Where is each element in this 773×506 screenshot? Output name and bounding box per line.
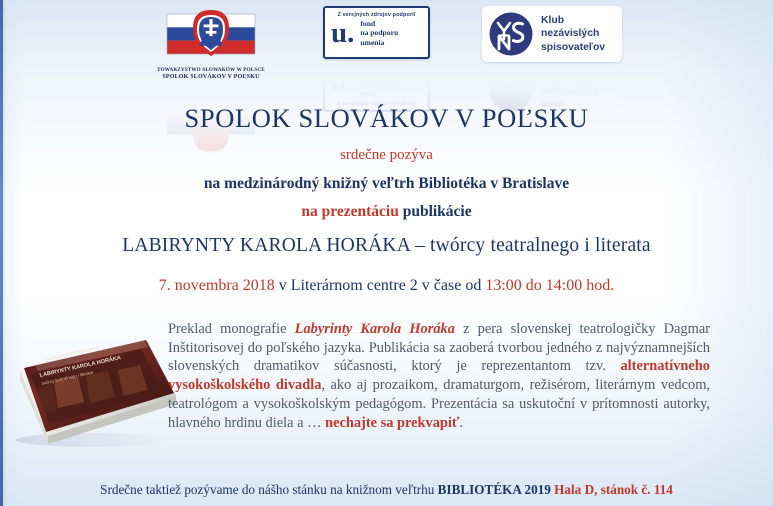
event-venue: v Literárnom centre 2 v čase od bbox=[275, 277, 486, 294]
caption-polish: TOWARZYSTWO SŁOWAKÓW W POLSCE bbox=[151, 68, 271, 74]
footer-line: Srdečne taktiež pozývame do nášho stánku… bbox=[0, 482, 773, 498]
kns-line-1: Klub bbox=[541, 14, 605, 27]
kns-line-3: spisovateľov bbox=[541, 41, 605, 54]
fpu-line-2: na podporu bbox=[360, 28, 398, 37]
caption-slovak: SPOLOK SLOVÁKOV V POĽSKU bbox=[151, 74, 271, 81]
organisation-title: SPOLOK SLOVÁKOV V POĽSKU bbox=[0, 103, 773, 134]
desc-highlight-surprise: nechajte sa prekvapiť bbox=[325, 415, 459, 431]
desc-book-title: Labyrinty Karola Horáka bbox=[295, 321, 455, 337]
date-time-line: 7. novembra 2018 v Literárnom centre 2 v… bbox=[0, 277, 773, 295]
slovak-coat-of-arms-icon bbox=[151, 6, 271, 68]
kns-text: Klub nezávislých spisovateľov bbox=[541, 14, 605, 54]
fpu-u-mark: u. bbox=[331, 20, 354, 47]
invitation-slide: TOWARZYSTWO SŁOWAKÓW W POLSCE SPOLOK SLO… bbox=[0, 0, 773, 506]
towarzystwo-slowakow-logo: TOWARZYSTWO SŁOWAKÓW W POLSCE SPOLOK SLO… bbox=[151, 6, 271, 81]
fpu-line-1: fond bbox=[360, 19, 398, 28]
fpu-logo: Z verejných zdrojov podporil u. fond na … bbox=[323, 6, 430, 59]
publication-title-sub: – twórcy teatralnego i literata bbox=[410, 235, 651, 256]
footer-fair-name: BIBLIOTÉKA 2019 bbox=[438, 482, 551, 497]
footer-intro: Srdečne taktiež pozývame do nášho stánku… bbox=[100, 482, 438, 497]
publication-title: LABIRYNTY KAROLA HORÁKA – twórcy teatral… bbox=[0, 235, 773, 257]
description-paragraph: Preklad monografie Labyrinty Karola Horá… bbox=[168, 320, 710, 432]
kns-logo: Klub nezávislých spisovateľov Klub nezáv… bbox=[482, 6, 622, 62]
event-line: na medzinárodný knižný veľtrh Bibliotéka… bbox=[0, 175, 773, 193]
desc-part-4: . bbox=[459, 415, 463, 431]
presentation-line: na prezentáciu publikácie bbox=[0, 203, 773, 221]
book-cover-labirynty-karola-horaka: DAGMAR INŠTITORISOVÁ LABIRYNTY KAROLA HO… bbox=[8, 336, 180, 448]
publication-title-main: LABIRYNTY KAROLA HORÁKA bbox=[122, 235, 410, 256]
kns-line-2: nezávislých bbox=[541, 27, 605, 40]
invitation-line: srdečne pozýva bbox=[0, 147, 773, 164]
desc-part-1: Preklad monografie bbox=[168, 321, 295, 337]
event-time: 13:00 do 14:00 hod. bbox=[485, 277, 614, 294]
towarzystwo-logo-caption: TOWARZYSTWO SŁOWAKÓW W POLSCE SPOLOK SLO… bbox=[151, 68, 271, 81]
presentation-object: publikácie bbox=[399, 203, 472, 220]
footer-stand: Hala D, stánok č. 114 bbox=[551, 482, 673, 497]
event-date: 7. novembra 2018 bbox=[159, 277, 275, 294]
sponsor-logo-strip: TOWARZYSTWO SŁOWAKÓW W POLSCE SPOLOK SLO… bbox=[0, 6, 773, 84]
kns-monogram-icon bbox=[488, 11, 534, 57]
presentation-label: na prezentáciu bbox=[301, 203, 398, 220]
fpu-line-3: umenia bbox=[360, 38, 398, 47]
